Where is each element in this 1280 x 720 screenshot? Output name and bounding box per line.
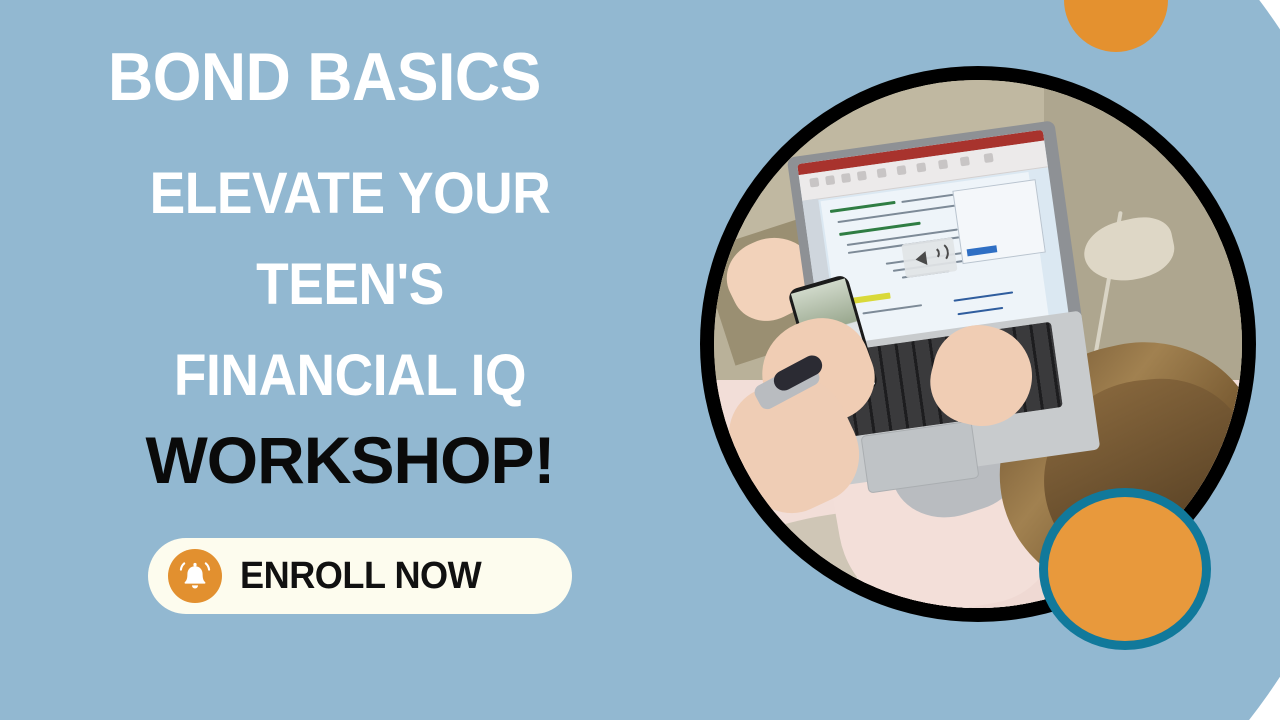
- text-column: BOND BASICS ELEVATE YOUR TEEN'S FINANCIA…: [0, 0, 690, 720]
- subtitle-line-1: ELEVATE YOUR: [115, 148, 584, 239]
- enroll-now-label: ENROLL NOW: [240, 555, 481, 598]
- poster-canvas: BOND BASICS ELEVATE YOUR TEEN'S FINANCIA…: [0, 0, 1280, 720]
- orange-circle-bottom-right-icon: [1039, 488, 1211, 650]
- subtitle-line-3: FINANCIAL IQ: [115, 330, 584, 421]
- enroll-now-button[interactable]: ENROLL NOW: [148, 538, 572, 614]
- emphasis-heading: WORKSHOP!: [95, 424, 605, 496]
- page-title: BOND BASICS: [108, 42, 568, 112]
- bell-icon: [168, 549, 222, 603]
- subtitle-block: ELEVATE YOUR TEEN'S FINANCIAL IQ: [115, 148, 584, 421]
- subtitle-line-2: TEEN'S: [115, 239, 584, 330]
